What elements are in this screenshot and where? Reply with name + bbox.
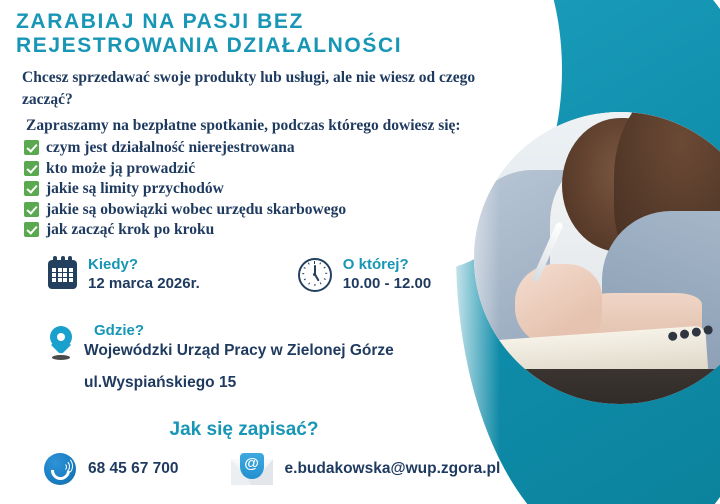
page-title: ZARABIAJ NA PASJI BEZ REJESTROWANIA DZIA…	[16, 10, 524, 57]
intro-line-1: Chcesz sprzedawać swoje produkty lub usł…	[22, 69, 435, 86]
email-address[interactable]: e.budakowska@wup.zgora.pl	[285, 460, 501, 478]
check-icon	[24, 161, 39, 176]
check-icon	[24, 222, 39, 237]
check-icon	[24, 202, 39, 217]
event-location-label: Gdzie?	[94, 322, 394, 340]
check-icon	[24, 140, 39, 155]
photo-hair-back	[562, 118, 679, 252]
at-symbol-glyph: @	[240, 453, 264, 479]
signup-heading: Jak się zapisać?	[14, 419, 474, 441]
location-pin-icon	[50, 326, 72, 360]
photo-hair	[614, 112, 720, 293]
photo-blazer-right	[602, 211, 720, 392]
calendar-icon	[48, 260, 77, 289]
photo-sleeve-buttons	[667, 316, 720, 338]
event-date-label: Kiedy?	[88, 256, 200, 275]
list-item: kto może ją prowadzić	[24, 161, 524, 177]
benefits-checklist: czym jest działalność nierejestrowana kt…	[24, 140, 524, 238]
photo-pen	[531, 221, 563, 282]
contact-row: 68 45 67 700 @ e.budakowska@wup.zgora.pl	[44, 453, 524, 485]
list-item: czym jest działalność nierejestrowana	[24, 140, 524, 156]
event-date-text: Kiedy? 12 marca 2026r.	[88, 256, 200, 294]
event-location-text: Gdzie? Wojewódzki Urząd Pracy w Zielonej…	[84, 322, 394, 395]
event-details-row: Kiedy? 12 marca 2026r.	[36, 256, 524, 294]
checklist-label: jakie są obowiązki wobec urzędu skarbowe…	[46, 202, 346, 218]
photo-hand	[515, 264, 603, 346]
event-location-street: ul.Wyspiańskiego 15	[84, 372, 394, 394]
list-item: jakie są limity przychodów	[24, 181, 524, 197]
event-location-block: Gdzie? Wojewódzki Urząd Pracy w Zielonej…	[50, 322, 524, 395]
list-item: jak zacząć krok po kroku	[24, 222, 524, 238]
phone-contact[interactable]: 68 45 67 700	[44, 453, 179, 485]
list-item: jakie są obowiązki wobec urzędu skarbowe…	[24, 202, 524, 218]
email-contact[interactable]: @ e.budakowska@wup.zgora.pl	[231, 453, 501, 485]
invitation-line: Zapraszamy na bezpłatne spotkanie, podcz…	[26, 115, 488, 137]
checklist-label: kto może ją prowadzić	[46, 161, 195, 177]
photo-arm	[573, 293, 701, 351]
phone-icon	[44, 453, 76, 485]
email-icon: @	[231, 453, 273, 485]
poster-content: ZARABIAJ NA PASJI BEZ REJESTROWANIA DZIA…	[0, 0, 524, 504]
headline-line-1: ZARABIAJ NA PASJI BEZ	[16, 10, 524, 34]
event-time-text: O której? 10.00 - 12.00	[343, 256, 431, 294]
event-time-label: O której?	[343, 256, 431, 275]
event-location-venue: Wojewódzki Urząd Pracy w Zielonej Górze	[84, 340, 394, 362]
phone-number[interactable]: 68 45 67 700	[88, 460, 179, 478]
event-date-value: 12 marca 2026r.	[88, 274, 200, 294]
photo-shirt	[550, 165, 649, 311]
event-time-block: O której? 10.00 - 12.00	[298, 256, 431, 294]
checklist-label: jak zacząć krok po kroku	[46, 222, 214, 238]
checklist-label: jakie są limity przychodów	[46, 181, 224, 197]
checklist-label: czym jest działalność nierejestrowana	[46, 140, 295, 156]
event-time-value: 10.00 - 12.00	[343, 274, 431, 294]
clock-icon	[298, 258, 332, 292]
poster-canvas: ZARABIAJ NA PASJI BEZ REJESTROWANIA DZIA…	[0, 0, 720, 504]
intro-paragraph: Chcesz sprzedawać swoje produkty lub usł…	[22, 67, 484, 111]
check-icon	[24, 181, 39, 196]
event-date-block: Kiedy? 12 marca 2026r.	[48, 256, 200, 294]
headline-line-2: REJESTROWANIA DZIAŁALNOŚCI	[16, 34, 524, 58]
